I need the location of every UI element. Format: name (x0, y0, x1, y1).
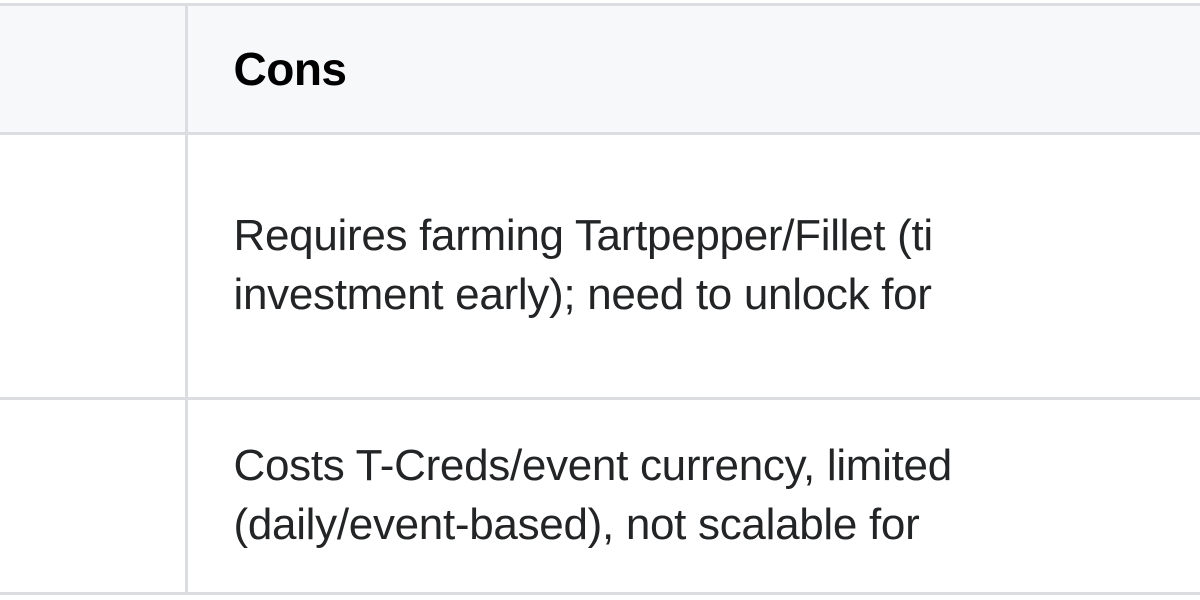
cell-cons-text: Requires farming Tartpepper/Fillet (ti i… (234, 207, 1200, 324)
table-viewport: Cons ds Requires farming Tartpepper/Fill… (0, 0, 1200, 600)
table-row: Costs T-Creds/event currency, limited (d… (0, 399, 1200, 594)
cell-method (0, 399, 186, 594)
cell-cons: Costs T-Creds/event currency, limited (d… (186, 399, 1200, 594)
column-header-method[interactable] (0, 5, 186, 134)
cell-cons-text: Costs T-Creds/event currency, limited (d… (234, 437, 1200, 554)
table-scroll-container[interactable]: Cons ds Requires farming Tartpepper/Fill… (0, 3, 1200, 595)
cell-method: ds (0, 134, 186, 399)
table-header: Cons (0, 5, 1200, 134)
cell-cons: Requires farming Tartpepper/Fillet (ti i… (186, 134, 1200, 399)
table-body: ds Requires farming Tartpepper/Fillet (t… (0, 134, 1200, 594)
column-header-cons[interactable]: Cons (186, 5, 1200, 134)
header-row: Cons (0, 5, 1200, 134)
cell-method-text: ds (0, 237, 145, 296)
column-header-cons-label: Cons (234, 43, 1200, 96)
table-row: ds Requires farming Tartpepper/Fillet (t… (0, 134, 1200, 399)
comparison-table: Cons ds Requires farming Tartpepper/Fill… (0, 3, 1200, 595)
